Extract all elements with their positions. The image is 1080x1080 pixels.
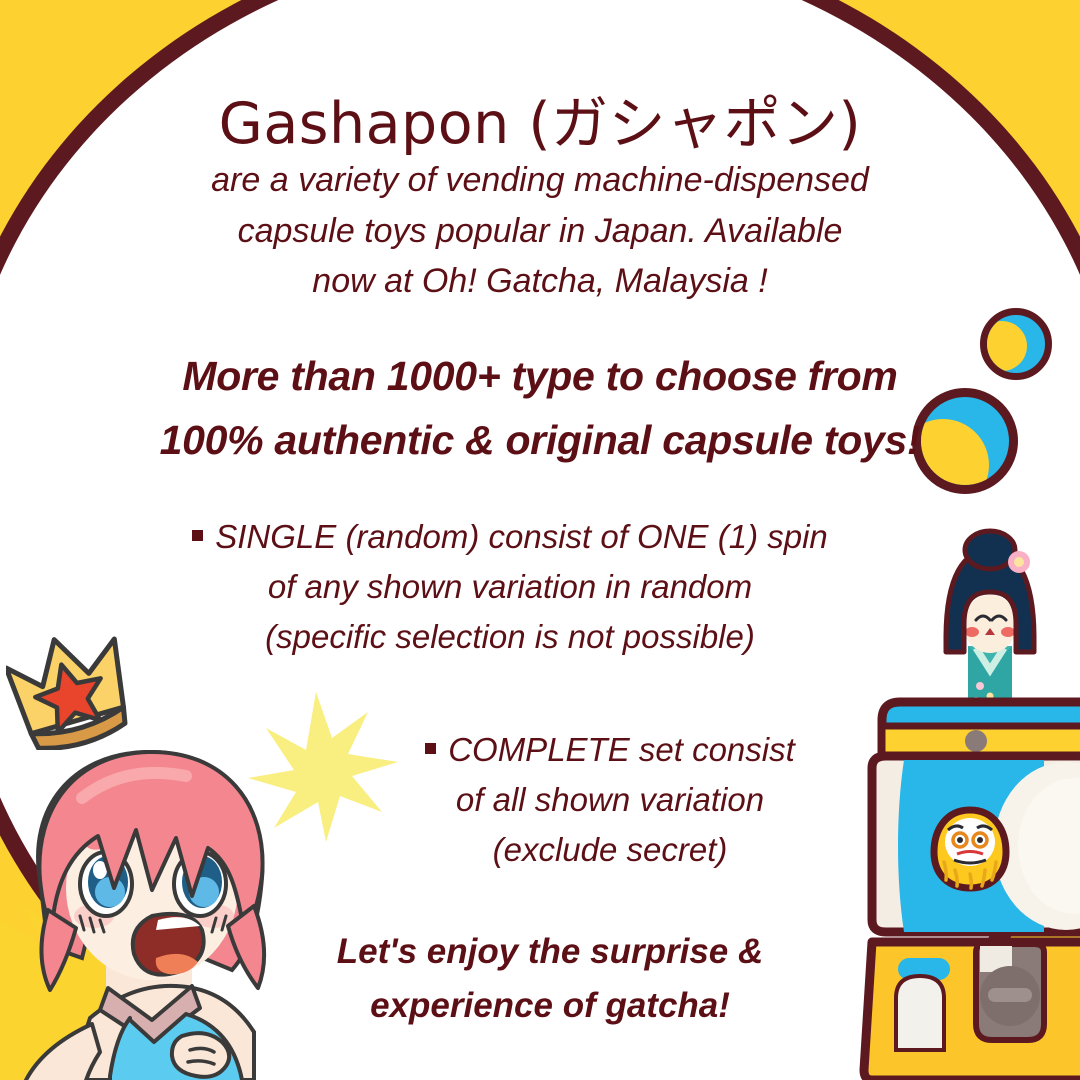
complete-option-text-1: COMPLETE set consist [448,731,795,768]
complete-option-line-3: (exclude secret) [330,825,890,875]
bullet-marker-icon [425,743,436,754]
single-option-line-3: (specific selection is not possible) [130,612,890,662]
complete-option-line-2: of all shown variation [330,775,890,825]
closing-line-1: Let's enjoy the surprise & [250,925,850,979]
intro-paragraph: are a variety of vending machine-dispens… [120,155,960,307]
intro-line-1: are a variety of vending machine-dispens… [120,155,960,206]
bullet-marker-icon [192,530,203,541]
headline-line-2: 100% authentic & original capsule toys! [60,409,1020,473]
gashapon-promo-poster: Gashapon (ガシャポン) are a variety of vendin… [0,0,1080,1080]
complete-option-block: COMPLETE set consist of all shown variat… [330,725,890,875]
poster-text-content: Gashapon (ガシャポン) are a variety of vendin… [0,0,1080,1080]
single-option-block: SINGLE (random) consist of ONE (1) spin … [130,512,890,662]
headline-line-1: More than 1000+ type to choose from [60,345,1020,409]
intro-line-2: capsule toys popular in Japan. Available [120,206,960,257]
headline-block: More than 1000+ type to choose from 100%… [60,345,1020,472]
single-option-line-2: of any shown variation in random [130,562,890,612]
single-option-text-1: SINGLE (random) consist of ONE (1) spin [215,518,828,555]
intro-line-3: now at Oh! Gatcha, Malaysia ! [120,256,960,307]
page-title: Gashapon (ガシャポン) [0,78,1080,160]
complete-option-line-1: COMPLETE set consist [330,725,890,775]
closing-line-2: experience of gatcha! [250,979,850,1033]
single-option-line-1: SINGLE (random) consist of ONE (1) spin [130,512,890,562]
closing-tagline: Let's enjoy the surprise & experience of… [250,925,850,1034]
